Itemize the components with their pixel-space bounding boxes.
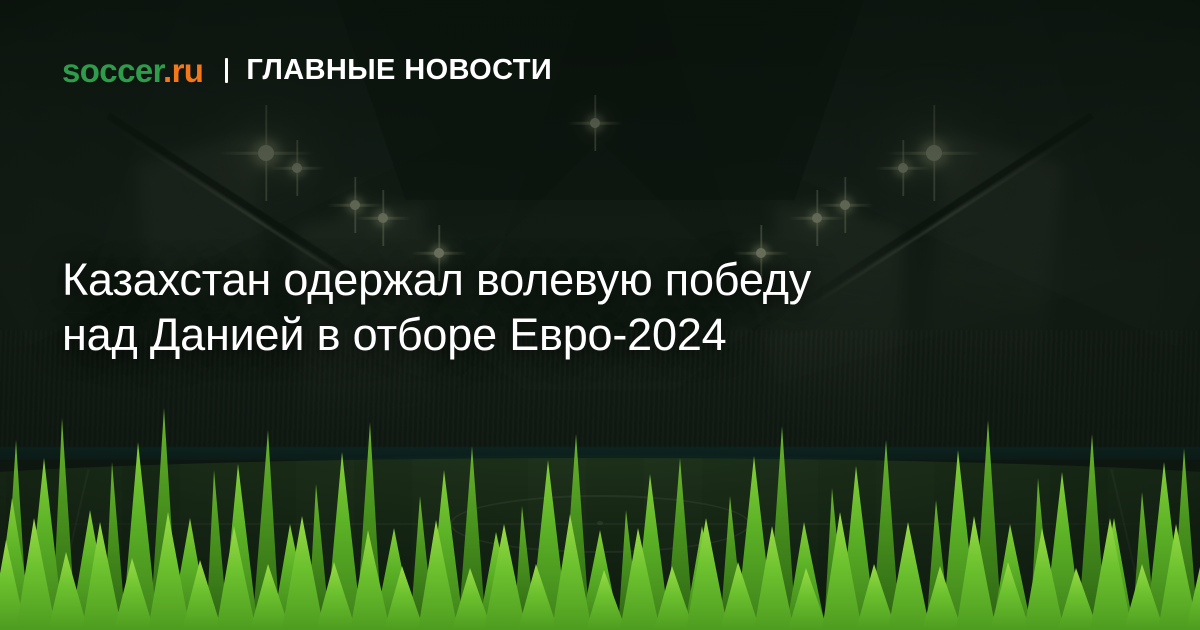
- section-kicker-label: ГЛАВНЫЕ НОВОСТИ: [246, 56, 552, 85]
- article-headline: Казахстан одержал волевую победу над Дан…: [62, 252, 1132, 362]
- social-share-card: soccer.ru ГЛАВНЫЕ НОВОСТИ Казахстан одер…: [0, 0, 1200, 630]
- card-header: soccer.ru ГЛАВНЫЕ НОВОСТИ: [62, 50, 552, 90]
- article-headline-line-2: над Данией в отборе Евро-2024: [62, 307, 1132, 362]
- site-logo-name: soccer: [62, 52, 163, 89]
- header-separator-divider: [225, 58, 228, 83]
- article-headline-line-1: Казахстан одержал волевую победу: [62, 252, 1132, 307]
- site-logo-tld: .ru: [163, 52, 203, 89]
- site-logo[interactable]: soccer.ru: [62, 54, 203, 87]
